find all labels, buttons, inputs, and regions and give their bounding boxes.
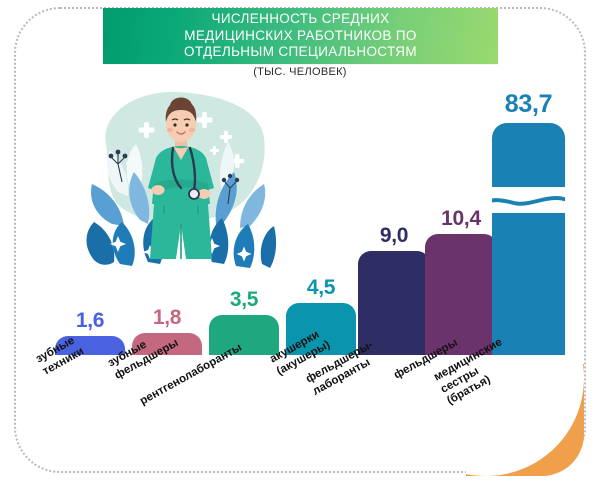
axis-break-wave [490,187,567,213]
bar-group-0: 1,6 [55,94,125,355]
bar-medicinskie-sestry [492,123,565,355]
bar-group-1: 1,8 [132,94,202,355]
x-axis-labels: зубные техники зубные фельдшеры рентгено… [0,341,600,461]
bar-chart: 1,6 1,8 3,5 4,5 9,0 10,4 [0,80,600,355]
chart-units-subtitle: (ТЫС. ЧЕЛОВЕК) [0,66,600,78]
bar-feldshery [425,234,497,355]
header-banner: ЧИСЛЕННОСТЬ СРЕДНИХ МЕДИЦИНСКИХ РАБОТНИК… [103,8,498,64]
bar-value-3: 4,5 [307,276,335,300]
infographic-poster: ЧИСЛЕННОСТЬ СРЕДНИХ МЕДИЦИНСКИХ РАБОТНИК… [0,0,600,485]
bar-group-5: 10,4 [425,94,497,355]
bar-value-4: 9,0 [380,224,408,248]
bar-value-6: 83,7 [505,90,552,119]
bar-group-3: 4,5 [286,94,356,355]
bar-group-6: 83,7 [492,94,565,355]
bar-value-2: 3,5 [230,288,258,312]
bar-value-5: 10,4 [441,207,481,231]
bar-group-4: 9,0 [358,94,430,355]
page-title: ЧИСЛЕННОСТЬ СРЕДНИХ МЕДИЦИНСКИХ РАБОТНИК… [178,11,423,61]
bar-group-2: 3,5 [209,94,279,355]
bar-value-0: 1,6 [76,309,104,333]
